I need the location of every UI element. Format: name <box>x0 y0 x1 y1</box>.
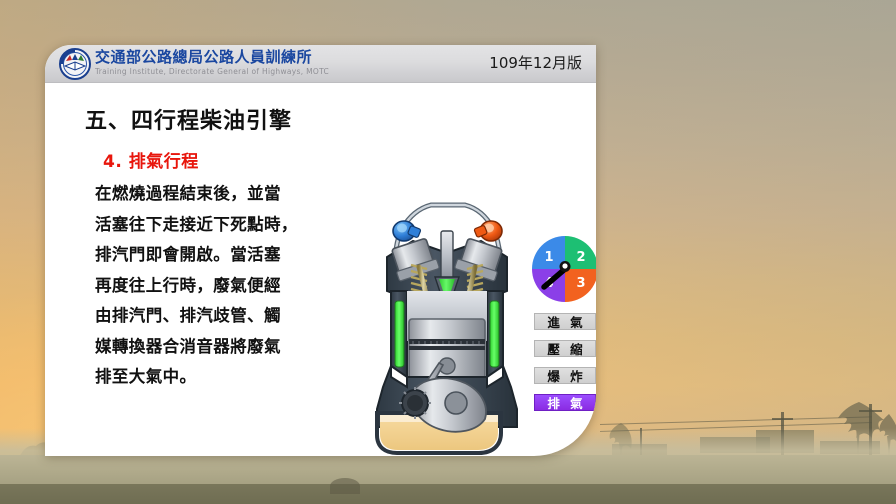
paragraph-line: 排至大氣中。 <box>95 362 347 393</box>
stage-intake[interactable]: 進 氣 <box>534 313 596 330</box>
edition-label: 109年12月版 <box>489 52 582 73</box>
stage-combustion[interactable]: 爆 炸 <box>534 367 596 384</box>
utility-pole-crossarm <box>859 410 882 412</box>
slide-header-bar: 交通部公路總局公路人員訓練所 Training Institute, Direc… <box>45 45 596 83</box>
four-stroke-diesel-engine-cutaway <box>361 191 533 456</box>
four-stroke-cycle-dial: 1 2 3 4 <box>531 235 596 307</box>
paragraph-line: 媒轉換器合消音器將廢氣 <box>95 332 347 363</box>
stage-exhaust[interactable]: 排 氣 <box>534 394 596 411</box>
coolant-jacket <box>490 301 499 367</box>
foreground-shrub <box>330 478 360 494</box>
organization-name-block: 交通部公路總局公路人員訓練所 Training Institute, Direc… <box>95 48 329 76</box>
stroke-heading: 4. 排氣行程 <box>103 147 199 172</box>
body-paragraph: 在燃燒過程結束後，並當 活塞往下走接近下死點時， 排汽門即會開啟。當活塞 再度往… <box>95 179 347 393</box>
paragraph-line: 活塞往下走接近下死點時， <box>95 210 347 241</box>
organization-name-en: Training Institute, Directorate General … <box>95 67 329 76</box>
training-institute-emblem-icon <box>59 48 91 80</box>
stage-compression[interactable]: 壓 縮 <box>534 340 596 357</box>
intake-port <box>393 221 421 241</box>
coolant-jacket <box>395 301 404 367</box>
slide-content-area: 五、四行程柴油引擎 4. 排氣行程 在燃燒過程結束後，並當 活塞往下走接近下死點… <box>45 83 596 456</box>
paragraph-line: 在燃燒過程結束後，並當 <box>95 179 347 210</box>
dial-number-2: 2 <box>576 250 585 265</box>
organization-name-zh: 交通部公路總局公路人員訓練所 <box>95 48 329 66</box>
exhaust-port <box>474 221 502 241</box>
paragraph-line: 由排汽門、排汽歧管、觸 <box>95 301 347 332</box>
dial-number-1: 1 <box>544 250 553 265</box>
paragraph-line: 再度往上行時，廢氣便經 <box>95 271 347 302</box>
paragraph-line: 排汽門即會開啟。當活塞 <box>95 240 347 271</box>
stage-label-list: 進 氣 壓 縮 爆 炸 排 氣 <box>534 313 596 421</box>
presentation-slide: 交通部公路總局公路人員訓練所 Training Institute, Direc… <box>45 45 596 456</box>
piston <box>409 319 485 383</box>
dial-number-3: 3 <box>576 276 585 291</box>
page-title: 五、四行程柴油引擎 <box>85 103 292 135</box>
